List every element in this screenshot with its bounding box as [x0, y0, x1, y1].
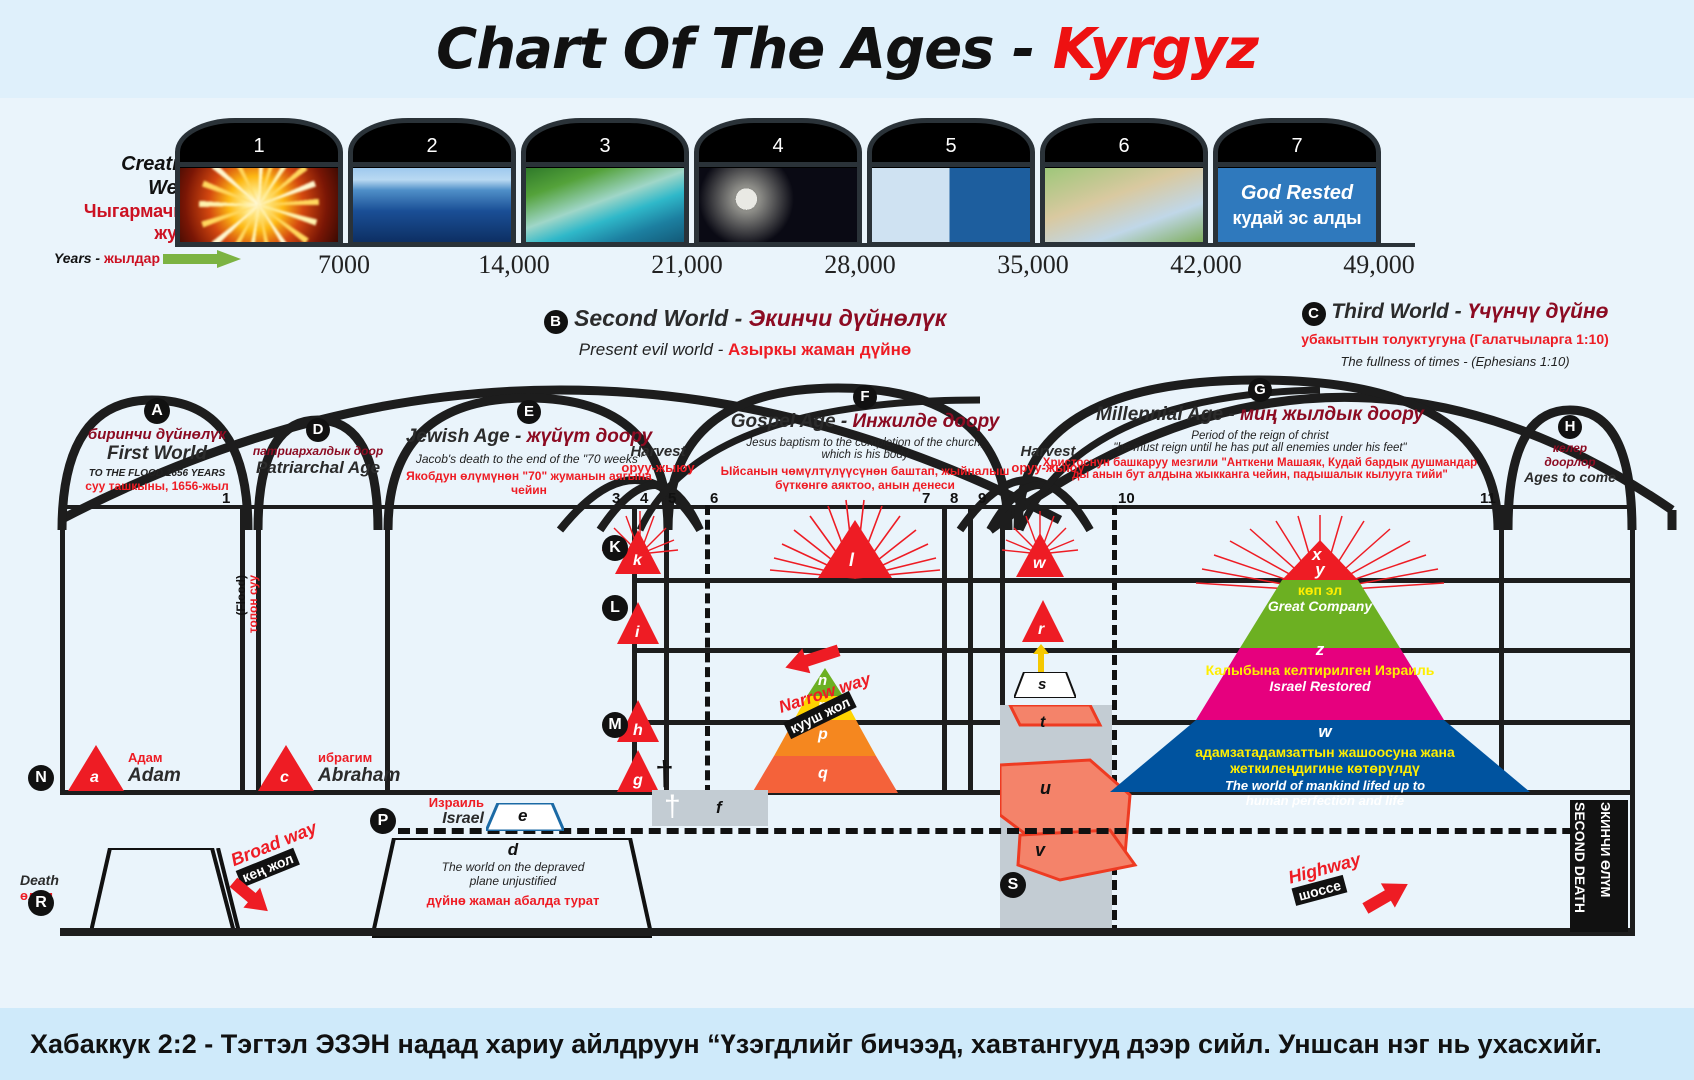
triangle-i-tag: i	[635, 624, 639, 642]
god-rested-en: God Rested	[1218, 182, 1376, 205]
second-death-en-wrap: SECOND DEATH	[1572, 802, 1598, 930]
marker-d: D	[306, 418, 330, 442]
creative-day-6: 6	[1040, 118, 1208, 246]
first-world-en: First World	[62, 443, 252, 465]
god-rested-ky: кудай эс алды	[1218, 208, 1376, 229]
harvest-2-ky: оруу-жыюу	[1000, 460, 1096, 475]
man-animals-image	[1045, 168, 1203, 242]
creative-day-7-number: 7	[1213, 118, 1381, 168]
colnum-11: 11	[1480, 490, 1496, 507]
year-28000: 28,000	[776, 250, 944, 280]
gospel-age-block: F Gospel Age - Инжилде доору Jesus bapti…	[690, 385, 1040, 492]
scripture-text: Хабаккук 2:2 - Тэгтэл ЭЗЭН надад хариу а…	[0, 1029, 1602, 1060]
millennial-tag-y: y	[1200, 560, 1440, 580]
harvest-1-en: Harvest	[610, 443, 706, 460]
marker-b: B	[544, 310, 568, 334]
jewish-age-dash: -	[510, 426, 527, 447]
millennial-age-ky: миң жылдык доору	[1240, 404, 1424, 425]
ocean-sky-image	[353, 168, 511, 242]
ages-to-come-ky-1: келер	[1508, 441, 1632, 455]
cross-icon-1: †	[655, 755, 674, 794]
creative-day-3-number: 3	[521, 118, 689, 168]
millennial-z-en: Israel Restored	[1160, 678, 1480, 694]
birds-fish-image	[872, 168, 1030, 242]
gospel-age-ky: Инжилде доору	[852, 411, 999, 432]
moon-sun-image	[699, 168, 857, 242]
highway-arrow-icon	[1357, 870, 1416, 923]
depraved-tag: d	[382, 840, 644, 860]
triangle-l-icon	[818, 520, 892, 578]
marker-k: K	[602, 535, 628, 561]
explosion-light-image	[180, 168, 338, 242]
second-death-ky-wrap: ЭКИНЧИ ӨЛҮМ	[1598, 802, 1624, 930]
millennial-age-sub-en-1: Period of the reign of christ	[1020, 430, 1500, 442]
ages-to-come-en: Ages to come	[1508, 469, 1632, 485]
second-world-dash: -	[728, 305, 748, 331]
gospel-age-en: Gospel Age	[731, 411, 836, 432]
depraved-ky: дүйнө жаман абалда турат	[382, 893, 644, 908]
death-en: Death	[20, 872, 76, 888]
ages-to-come-ky-2: доорлор	[1508, 455, 1632, 469]
third-world-sub-ky: убакыттын толуктугуна (Галатчыларга 1:10…	[1230, 331, 1680, 347]
marker-l: L	[602, 595, 628, 621]
depraved-world-labels: d The world on the depraved plane unjust…	[382, 840, 644, 908]
millennial-y-ky: көп эл	[1200, 582, 1440, 598]
ages-to-come-block: H келер доорлор Ages to come	[1508, 415, 1632, 485]
millennial-band-z: z Калыбына келтирилген Израиль Israel Re…	[1160, 640, 1480, 694]
second-death-en: SECOND DEATH	[1572, 802, 1588, 913]
creative-day-2: 2	[348, 118, 516, 246]
marker-e: E	[517, 400, 541, 424]
creative-day-4-number: 4	[694, 118, 862, 168]
millennial-w-ky-1: адамзатадамзаттын жашоосуна жана	[1130, 744, 1520, 760]
israel-labels: Израиль Israel	[404, 795, 484, 828]
marker-f: F	[853, 385, 877, 409]
harvest-1-ky: оруу-жыюу	[610, 460, 706, 475]
marker-r: R	[28, 890, 54, 916]
marker-c: C	[1302, 302, 1326, 326]
marker-m: M	[602, 712, 628, 738]
triangle-l-tag: l	[849, 550, 854, 571]
abraham-figure: c	[258, 745, 314, 796]
tag-v: v	[1035, 840, 1045, 861]
gospel-age-sub-en-1: Jesus baptism to the completion of the c…	[690, 437, 1040, 449]
r-baseline	[60, 928, 1635, 936]
patriarchal-age-block: D патриархалдык доор Patriarchal Age	[248, 418, 388, 478]
millennial-tag-w: w	[1130, 722, 1520, 742]
creative-day-1: 1	[175, 118, 343, 246]
grid-left-edge	[60, 505, 65, 795]
israel-tag: e	[518, 806, 527, 826]
first-world-block: A биринчи дүйнөлүк First World TO THE FL…	[62, 398, 252, 493]
triangle-r-tag: r	[1038, 621, 1044, 639]
second-world-ky: Экинчи дүйнөлүк	[749, 305, 947, 331]
triangle-l-figure: l	[818, 520, 892, 583]
p-dashed-line	[398, 828, 1628, 834]
creative-day-6-number: 6	[1040, 118, 1208, 168]
flood-label-ky: топон суу	[246, 575, 260, 633]
creative-day-2-number: 2	[348, 118, 516, 168]
millennial-age-en: Millennial Age	[1096, 404, 1223, 425]
creative-day-5: 5	[867, 118, 1035, 246]
harvest-2-en: Harvest	[1000, 443, 1096, 460]
second-world-sub-ky: Азыркы жаман дүйнө	[728, 340, 911, 359]
abraham-labels: ибрагим Abraham	[318, 750, 400, 787]
colnum-4: 4	[640, 490, 648, 507]
triangle-w-tag: w	[1033, 555, 1045, 573]
patriarchal-age-en: Patriarchal Age	[248, 458, 388, 478]
israel-ky: Израиль	[404, 795, 484, 810]
marker-h: H	[1558, 415, 1582, 439]
tag-t: t	[1040, 714, 1045, 732]
marker-n: N	[28, 765, 54, 791]
colnum-5: 5	[668, 490, 676, 507]
first-world-line1: TO THE FLOOD 1656 YEARS	[62, 468, 252, 479]
triangle-r-figure: r	[1022, 600, 1064, 647]
third-world-heading: C Third World - Үчүнчү дүйнө убакыттын т…	[1230, 300, 1680, 369]
years-label-en: Years -	[54, 250, 104, 266]
years-label: Years - жылдар	[38, 250, 160, 266]
millennial-age-dash: -	[1223, 404, 1240, 425]
millennial-band-w: w адамзатадамзаттын жашоосуна жана жетки…	[1130, 722, 1520, 808]
triangle-w-figure: w	[1016, 533, 1064, 582]
marker-p: P	[370, 808, 396, 834]
death-trapezoid	[90, 848, 240, 936]
triangle-h-tag: h	[633, 722, 643, 740]
god-rested-panel: God Rested кудай эс алды	[1218, 168, 1376, 242]
tag-u: u	[1040, 778, 1051, 799]
israel-en: Israel	[404, 810, 484, 828]
depraved-en-1: The world on the depraved	[382, 860, 644, 874]
year-14000: 14,000	[430, 250, 598, 280]
creative-day-1-number: 1	[175, 118, 343, 168]
creative-day-3: 3	[521, 118, 689, 246]
abraham-tag: c	[280, 769, 289, 787]
creative-day-5-number: 5	[867, 118, 1035, 168]
marker-g: G	[1248, 378, 1272, 402]
year-35000: 35,000	[949, 250, 1117, 280]
third-world-dash: -	[1449, 300, 1468, 323]
patriarchal-age-ky: патриархалдык доор	[248, 444, 388, 458]
year-21000: 21,000	[603, 250, 771, 280]
land-vegetation-image	[526, 168, 684, 242]
creative-day-4: 4	[694, 118, 862, 246]
second-world-sub-en: Present evil world -	[579, 340, 728, 359]
harvest-label-1: Harvest оруу-жыюу	[610, 443, 706, 475]
trapezoid-s-tag: s	[1038, 676, 1046, 693]
millennial-tag-z: z	[1160, 640, 1480, 660]
third-world-sub-en: The fullness of times - (Ephesians 1:10)	[1230, 354, 1680, 369]
colnum-1: 1	[222, 490, 230, 507]
gospel-age-sub-ky-1: Ыйсанын чөмүлтүлүүсүнөн баштап, жыйналыш	[690, 464, 1040, 478]
third-world-ky: Үчүнчү дүйнө	[1467, 300, 1608, 323]
first-world-ky: биринчи дүйнөлүк	[62, 426, 252, 443]
pyramid-tag-q: q	[818, 765, 828, 783]
adam-labels: Адам Adam	[128, 750, 181, 787]
third-world-en: Third World	[1331, 300, 1448, 323]
page-title: Chart Of The Ages - Kyrgyz	[436, 17, 1258, 82]
page-title-main: Chart Of The Ages -	[436, 17, 1053, 82]
highway-label: Highway шоссе	[1286, 849, 1368, 907]
pyramid-tag-p: p	[818, 726, 828, 744]
marker-s: S	[1000, 872, 1026, 898]
years-arrow-icon	[163, 250, 241, 268]
scripture-bar: Хабаккук 2:2 - Тэгтэл ЭЗЭН надад хариу а…	[0, 1008, 1694, 1080]
creative-week-baseline	[175, 243, 1415, 247]
adam-tag: a	[90, 769, 99, 787]
millennial-y-en: Great Company	[1200, 598, 1440, 614]
second-death-ky: ЭКИНЧИ ӨЛҮМ	[1598, 802, 1613, 897]
tag-f: f	[716, 798, 722, 818]
colnum-8: 8	[950, 490, 958, 507]
chart-of-the-ages-page: Chart Of The Ages - Kyrgyz Creative Week…	[0, 0, 1694, 1080]
depraved-en-2: plane unjustified	[382, 874, 644, 888]
creative-week-row: 1 2 3 4 5 6 7	[175, 118, 1415, 246]
year-49000: 49,000	[1295, 250, 1463, 280]
colnum-10: 10	[1118, 490, 1135, 507]
creative-day-7: 7 God Rested кудай эс алды	[1213, 118, 1381, 246]
colnum-3: 3	[612, 490, 620, 507]
years-label-ky: жылдар	[104, 250, 160, 266]
millennial-z-ky: Калыбына келтирилген Израиль	[1160, 662, 1480, 678]
year-7000: 7000	[260, 250, 428, 280]
flood-label-ky-wrap: топон суу	[246, 575, 268, 765]
millennial-w-en-2: human perfection and life	[1130, 793, 1520, 808]
second-world-en: Second World	[574, 305, 728, 331]
gospel-age-sub-en-2: which is his body	[690, 449, 1040, 461]
millennial-w-ky-2: жеткилеңдигине көтөрүлдү	[1130, 760, 1520, 776]
second-world-heading: B Second World - Экинчи дүйнөлүк Present…	[465, 305, 1025, 360]
adam-en: Adam	[128, 765, 181, 787]
page-title-language: Kyrgyz	[1053, 17, 1258, 82]
abraham-ky: ибрагим	[318, 750, 400, 765]
abraham-en: Abraham	[318, 765, 400, 787]
year-42000: 42,000	[1122, 250, 1290, 280]
up-arrow-icon	[1032, 644, 1050, 672]
millennial-band-y: y көп эл Great Company	[1200, 560, 1440, 614]
adam-figure: a	[68, 745, 124, 796]
colnum-9: 9	[978, 490, 986, 507]
millennial-w-en-1: The world of mankind lifed up to	[1130, 778, 1520, 793]
marker-a: A	[144, 398, 170, 424]
gospel-age-sub-ky-2: бүткөнгө аяктоо, анын денеси	[690, 478, 1040, 492]
harvest-label-2: Harvest оруу-жыюу	[1000, 443, 1096, 475]
jewish-age-en: Jewish Age	[406, 426, 510, 447]
colnum-6: 6	[710, 490, 718, 507]
gospel-age-dash: -	[836, 411, 853, 432]
cross-icon-2: †	[664, 790, 681, 824]
triangle-g-tag: g	[633, 772, 643, 790]
page-title-bar: Chart Of The Ages - Kyrgyz	[0, 0, 1694, 98]
adam-ky: Адам	[128, 750, 181, 765]
